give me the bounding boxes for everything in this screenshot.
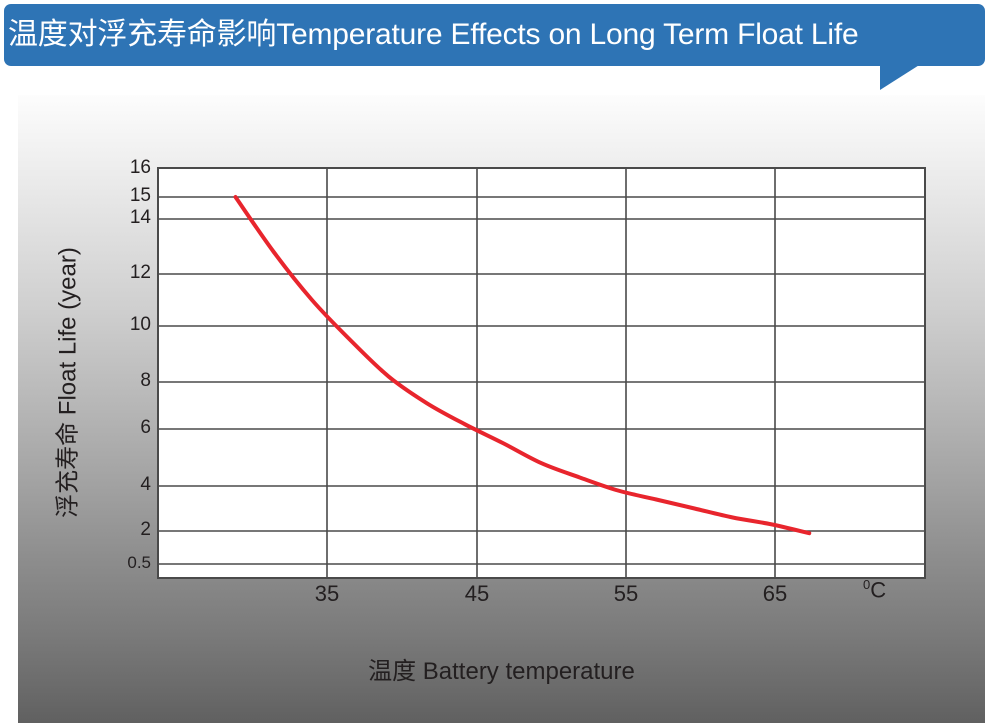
x-tick-label: 55	[591, 583, 661, 605]
banner-tail-icon	[880, 62, 924, 90]
vertical-gridlines	[327, 169, 775, 577]
title-banner: 温度对浮充寿命影响Temperature Effects on Long Ter…	[4, 4, 985, 66]
x-axis-unit-label: 0C	[863, 577, 886, 603]
plot-area	[157, 167, 926, 579]
y-tick-label: 12	[130, 263, 151, 282]
y-tick-label: 14	[130, 208, 151, 227]
chart-panel: 浮充寿命 Float Life (year) 16 15 14 12 10 8 …	[18, 95, 985, 723]
celsius-letter: C	[870, 577, 886, 602]
y-axis-title: 浮充寿命 Float Life (year)	[48, 218, 83, 548]
y-axis-tick-labels: 16 15 14 12 10 8 6 4 2 0.5	[123, 167, 151, 575]
x-axis-title: 温度 Battery temperature	[18, 651, 985, 686]
x-tick-label: 35	[292, 583, 362, 605]
y-tick-label: 2	[140, 520, 151, 539]
x-tick-label: 45	[442, 583, 512, 605]
y-tick-label: 8	[140, 371, 151, 390]
y-tick-label: 10	[130, 315, 151, 334]
plot-svg	[159, 169, 924, 577]
y-tick-label: 4	[140, 475, 151, 494]
x-axis-tick-labels: 35 45 55 65	[159, 583, 924, 613]
y-tick-label: 6	[140, 418, 151, 437]
page-title: 温度对浮充寿命影响Temperature Effects on Long Ter…	[4, 20, 858, 50]
y-tick-label: 15	[130, 186, 151, 205]
x-tick-label: 65	[740, 583, 810, 605]
data-series-line	[236, 197, 810, 533]
y-tick-label: 0.5	[127, 553, 151, 572]
y-tick-label: 16	[130, 158, 151, 177]
